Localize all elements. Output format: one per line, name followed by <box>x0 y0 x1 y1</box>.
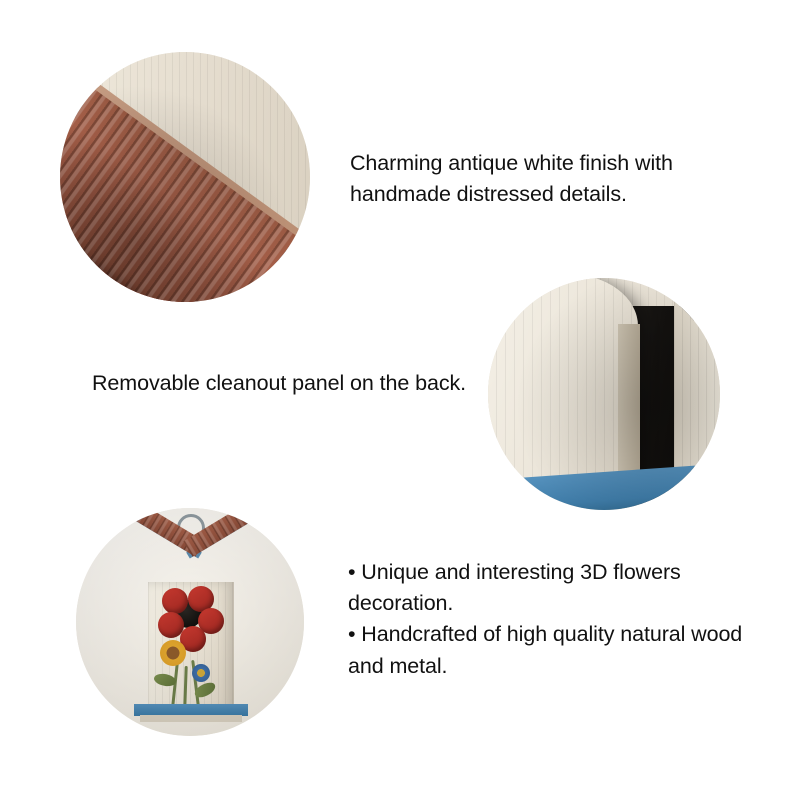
feature-bullet-handcrafted: • Handcrafted of high quality natural wo… <box>348 619 768 681</box>
photo-vignette <box>76 508 304 736</box>
full-birdhouse-photo <box>76 508 304 736</box>
product-feature-sheet: Charming antique white finish with handm… <box>0 0 800 800</box>
feature-bullet-list: • Unique and interesting 3D flowers deco… <box>348 557 768 682</box>
feature-bullet-3d-flowers: • Unique and interesting 3D flowers deco… <box>348 557 768 619</box>
photo-vignette <box>60 52 310 302</box>
cleanout-panel-photo <box>488 278 720 510</box>
photo-vignette <box>488 278 720 510</box>
feature-text-antique-white-finish: Charming antique white finish with handm… <box>350 148 750 210</box>
roof-detail-photo <box>60 52 310 302</box>
feature-text-cleanout-panel: Removable cleanout panel on the back. <box>92 368 482 399</box>
